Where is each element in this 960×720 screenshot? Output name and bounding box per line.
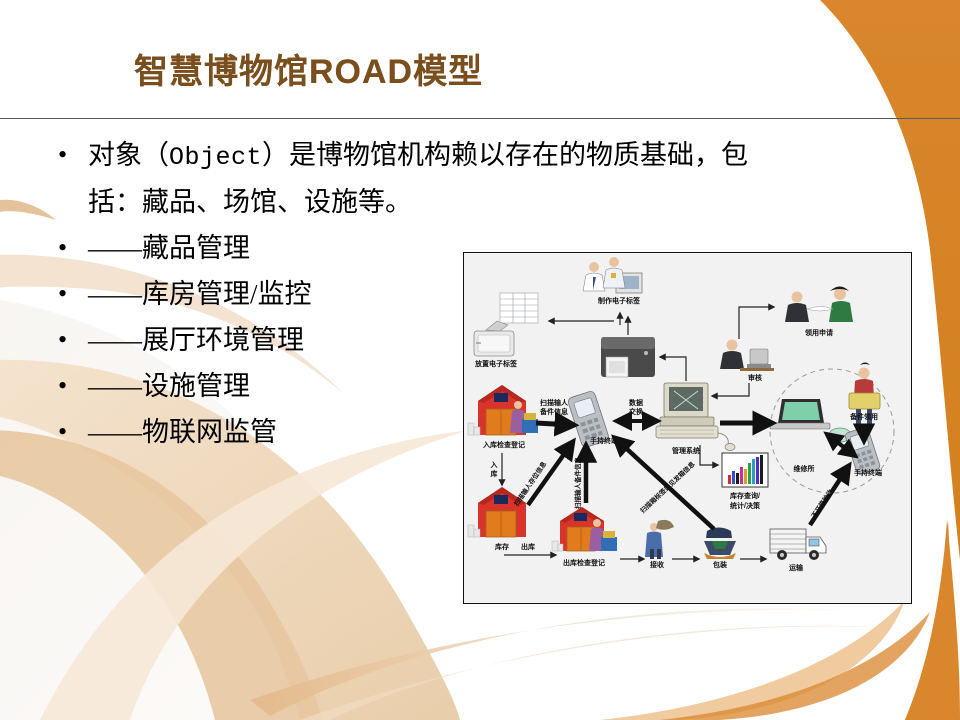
label-apply: 领用申请 (805, 328, 833, 337)
label-place-tag: 放置电子标签 (474, 359, 518, 368)
tag-stack-icon (500, 293, 538, 323)
label-make-tag: 制作电子标签 (598, 296, 641, 305)
list-item-label: 对象（Object）是博物馆机构赖以存在的物质基础，包括：藏品、场馆、设施等。 (88, 133, 752, 224)
bullet-marker: • (52, 318, 88, 362)
bullet-marker: • (52, 364, 88, 408)
bullet-text-mono: Object (169, 143, 262, 172)
label-inbound-check: 入库检查登记 (482, 440, 525, 449)
list-item: • 对象（Object）是博物馆机构赖以存在的物质基础，包括：藏品、场馆、设施等… (52, 133, 752, 224)
label-parts-issue: 备件领用 (849, 412, 878, 421)
bullet-marker: • (52, 133, 88, 177)
title-text-cjk-2: 模型 (413, 54, 483, 91)
bullet-marker: • (52, 410, 88, 454)
diagram-svg: 放置电子标签 制作电子标签 (464, 253, 911, 603)
label-printer-icon (601, 337, 655, 377)
stock-stats-icon (722, 453, 768, 487)
title-divider (0, 118, 960, 119)
rfid-workflow-diagram: 放置电子标签 制作电子标签 (463, 252, 912, 604)
slide: 智慧博物馆ROAD模型 • 对象（Object）是博物馆机构赖以存在的物质基础，… (0, 0, 960, 720)
label-receive: 接收 (650, 560, 665, 569)
bullet-marker: • (52, 272, 88, 316)
label-audit: 审核 (748, 373, 762, 382)
bullet-marker: • (52, 226, 88, 270)
page-title: 智慧博物馆ROAD模型 (134, 44, 483, 93)
label-handheld-2: 手持终端 (854, 468, 882, 477)
label-scan-parts-info-2: 扫描输人备件信息 (573, 457, 582, 510)
label-outbound-check: 出库检查登记 (563, 558, 605, 567)
label-stock: 库存 (495, 542, 509, 551)
label-package: 包装 (713, 560, 727, 569)
label-handheld: 手持终端 (590, 436, 618, 445)
label-mgmt-system: 管理系统 (672, 446, 700, 455)
title-text-cjk-1: 智慧博物馆 (134, 54, 309, 91)
bullet-text-pre: 对象（ (88, 140, 169, 170)
title-text-latin: ROAD (309, 53, 413, 91)
label-repair-shop: 维修所 (794, 464, 815, 473)
label-transport: 运输 (789, 563, 804, 572)
label-outbound: 出库 (521, 542, 535, 551)
